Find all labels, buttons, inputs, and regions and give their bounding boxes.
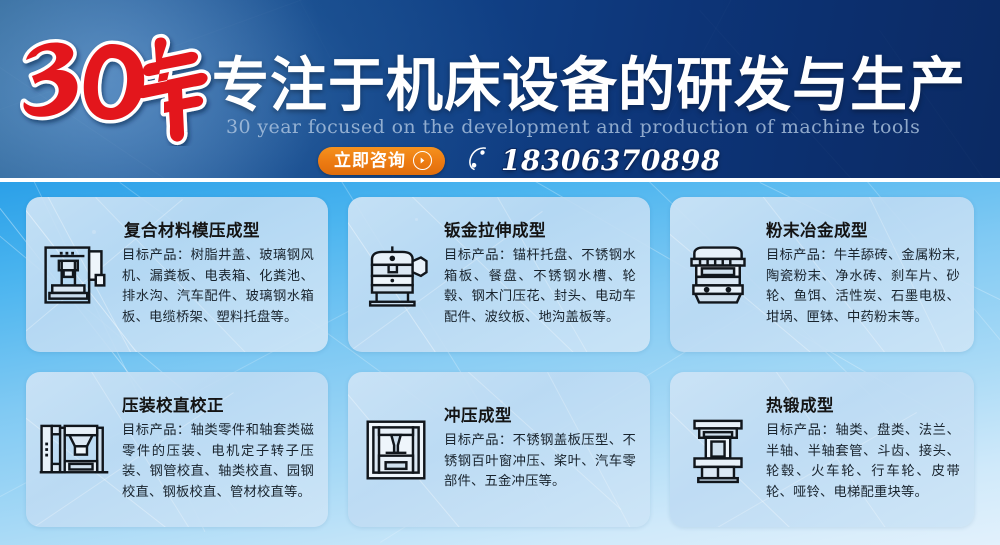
card-title: 压装校直校正 (122, 396, 314, 416)
card-text-block: 压装校直校正 目标产品：轴类零件和轴套类磁零件的压装、电机定子转子压装、钢管校直… (122, 396, 328, 503)
card-title: 粉末冶金成型 (766, 221, 960, 241)
service-card-composite-compression-molding[interactable]: 复合材料模压成型 目标产品：树脂井盖、玻璃钢风机、漏粪板、电表箱、化粪池、排水沟… (26, 197, 328, 352)
service-card-powder-metallurgy-forming[interactable]: 粉末冶金成型 目标产品：牛羊舔砖、金属粉末,陶瓷粉末、净水砖、刹车片、砂轮、鱼饵… (670, 197, 974, 352)
card-text-block: 冲压成型 目标产品：不锈钢盖板压型、不锈钢百叶窗冲压、桨叶、汽车零部件、五金冲压… (444, 406, 650, 493)
card-text-block: 复合材料模压成型 目标产品：树脂井盖、玻璃钢风机、漏粪板、电表箱、化粪池、排水沟… (122, 221, 328, 328)
card-title: 热锻成型 (766, 396, 960, 416)
card-description: 目标产品：轴类、盘类、法兰、半轴、半轴套管、斗齿、接头、轮毂、火车轮、行车轮、皮… (766, 421, 960, 503)
phone-block: 18306370898 (465, 145, 721, 176)
consult-now-button[interactable]: 立即咨询 (318, 147, 445, 175)
logo-30-years (14, 28, 219, 146)
service-card-stamping-forming[interactable]: 冲压成型 目标产品：不锈钢盖板压型、不锈钢百叶窗冲压、桨叶、汽车零部件、五金冲压… (348, 372, 650, 527)
consult-now-label: 立即咨询 (334, 151, 406, 171)
forging-press-icon (670, 415, 766, 485)
card-description: 目标产品：不锈钢盖板压型、不锈钢百叶窗冲压、桨叶、汽车零部件、五金冲压等。 (444, 431, 636, 493)
service-card-press-fitting-straightening[interactable]: 压装校直校正 目标产品：轴类零件和轴套类磁零件的压装、电机定子转子压装、钢管校直… (26, 372, 328, 527)
card-title: 冲压成型 (444, 406, 636, 426)
headline-english: 30 year focused on the development and p… (226, 116, 920, 138)
powder-metallurgy-press-icon (670, 240, 766, 310)
service-card-sheet-metal-stretch-forming[interactable]: 钣金拉伸成型 目标产品：锚杆托盘、不锈钢水箱板、餐盘、不锈钢水槽、轮毂、钢木门压… (348, 197, 650, 352)
card-description: 目标产品：锚杆托盘、不锈钢水箱板、餐盘、不锈钢水槽、轮毂、钢木门压花、封头、电动… (444, 246, 636, 328)
card-description: 目标产品：牛羊舔砖、金属粉末,陶瓷粉末、净水砖、刹车片、砂轮、鱼饵、活性炭、石墨… (766, 246, 960, 328)
straightening-press-icon (26, 418, 122, 482)
telephone-handset-icon (465, 145, 492, 176)
service-card-hot-forging-forming[interactable]: 热锻成型 目标产品：轴类、盘类、法兰、半轴、半轴套管、斗齿、接头、轮毂、火车轮、… (670, 372, 974, 527)
sheet-metal-stretch-press-icon (348, 240, 444, 310)
stamping-press-icon (348, 417, 444, 483)
phone-number[interactable]: 18306370898 (501, 146, 721, 176)
cta-row: 立即咨询 18306370898 (318, 145, 721, 176)
hydraulic-molding-press-icon (26, 240, 122, 310)
card-text-block: 粉末冶金成型 目标产品：牛羊舔砖、金属粉末,陶瓷粉末、净水砖、刹车片、砂轮、鱼饵… (766, 221, 974, 328)
banner-header: 专注于机床设备的研发与生产 30 year focused on the dev… (0, 0, 1000, 178)
card-title: 钣金拉伸成型 (444, 221, 636, 241)
card-text-block: 钣金拉伸成型 目标产品：锚杆托盘、不锈钢水箱板、餐盘、不锈钢水槽、轮毂、钢木门压… (444, 221, 650, 328)
card-description: 目标产品：树脂井盖、玻璃钢风机、漏粪板、电表箱、化粪池、排水沟、汽车配件、玻璃钢… (122, 246, 314, 328)
card-title: 复合材料模压成型 (124, 221, 314, 241)
headline-chinese: 专注于机床设备的研发与生产 (212, 38, 966, 123)
arrow-right-circle-icon (413, 151, 432, 170)
banner-body: 复合材料模压成型 目标产品：树脂井盖、玻璃钢风机、漏粪板、电表箱、化粪池、排水沟… (0, 182, 1000, 545)
card-description: 目标产品：轴类零件和轴套类磁零件的压装、电机定子转子压装、钢管校直、轴类校直、园… (122, 421, 314, 503)
promotional-banner: 专注于机床设备的研发与生产 30 year focused on the dev… (0, 0, 1000, 545)
card-text-block: 热锻成型 目标产品：轴类、盘类、法兰、半轴、半轴套管、斗齿、接头、轮毂、火车轮、… (766, 396, 974, 503)
